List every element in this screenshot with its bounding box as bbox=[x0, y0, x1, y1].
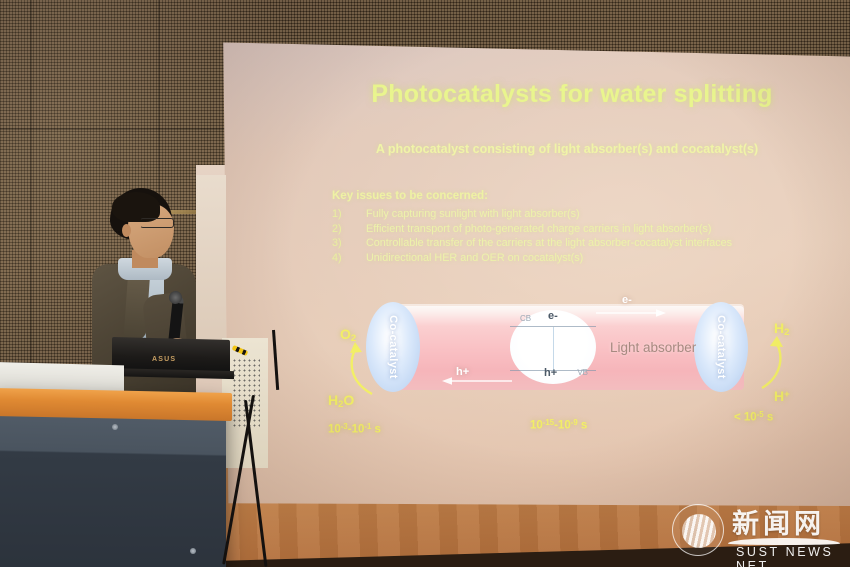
list-item: 2) Efficient transport of photo-generate… bbox=[332, 223, 832, 235]
eyeglasses-icon bbox=[140, 218, 174, 228]
list-item-text: Unidirectional HER and OER on cocatalyst… bbox=[366, 252, 583, 264]
watermark-chinese-text: 新闻网 bbox=[732, 502, 825, 541]
list-item: 1) Fully capturing sunlight with light a… bbox=[332, 208, 832, 220]
timescale-middle: 10-15-10-9 s bbox=[530, 418, 587, 431]
reduction-reaction-arrow bbox=[750, 334, 792, 392]
cocatalyst-left-label: Co-catalyst bbox=[387, 315, 399, 379]
electron-arrow-label: e- bbox=[622, 294, 632, 306]
valence-band-label: VB bbox=[577, 368, 588, 377]
conduction-band-label: CB bbox=[520, 314, 531, 323]
list-item-text: Fully capturing sunlight with light abso… bbox=[366, 208, 580, 220]
list-item-number: 2) bbox=[332, 223, 366, 235]
band-gap-stem bbox=[553, 327, 554, 371]
light-absorber-label: Light absorber bbox=[610, 340, 696, 355]
seal-inner-mark bbox=[682, 514, 716, 548]
podium-screw-upper bbox=[112, 424, 118, 430]
podium-screw-lower bbox=[190, 548, 196, 554]
oxidation-reaction-arrow bbox=[342, 340, 384, 398]
watermark: 新闻网 SUST NEWS NET bbox=[672, 500, 842, 562]
photo-scene: Photocatalysts for water splitting A pho… bbox=[0, 0, 850, 567]
hole-arrow-label: h+ bbox=[456, 366, 469, 378]
electron-transfer-arrow bbox=[594, 306, 668, 320]
hole-transfer-arrow bbox=[440, 374, 514, 388]
projection-screen: Photocatalysts for water splitting A pho… bbox=[222, 32, 850, 508]
oxygen-label: O2 bbox=[340, 326, 356, 344]
watermark-english-text: SUST NEWS NET bbox=[736, 545, 842, 567]
key-issues-list: 1) Fully capturing sunlight with light a… bbox=[332, 208, 832, 266]
list-item-number: 1) bbox=[332, 208, 366, 220]
slide-content: Photocatalysts for water splitting A pho… bbox=[222, 32, 850, 508]
cocatalyst-right-label: Co-catalyst bbox=[715, 315, 727, 379]
core-electron-label: e- bbox=[548, 310, 558, 322]
timescale-right: < 10-5 s bbox=[734, 410, 773, 423]
timescale-left: 10-3-10-1 s bbox=[328, 422, 381, 435]
laptop-brand-label: ASUS bbox=[152, 356, 176, 363]
podium-top-rail bbox=[0, 388, 232, 421]
list-item-number: 3) bbox=[332, 237, 366, 249]
water-label: H2O bbox=[328, 392, 354, 410]
presenter-ear bbox=[122, 224, 131, 237]
slide-subtitle: A photocatalyst consisting of light abso… bbox=[332, 142, 802, 156]
university-seal-icon bbox=[672, 504, 724, 556]
proton-label: H+ bbox=[774, 388, 790, 404]
list-item: 4) Unidirectional HER and OER on cocatal… bbox=[332, 252, 832, 264]
band-structure-circle: CB VB e- h+ bbox=[510, 310, 596, 384]
list-item-text: Controllable transfer of the carriers at… bbox=[366, 237, 732, 249]
hydrogen-label: H2 bbox=[774, 320, 789, 338]
key-issues-heading: Key issues to be concerned: bbox=[332, 190, 488, 202]
photocatalyst-diagram: Co-catalyst Co-catalyst CB VB e- h+ Ligh… bbox=[322, 282, 842, 432]
list-item-text: Efficient transport of photo-generated c… bbox=[366, 223, 711, 235]
list-item-number: 4) bbox=[332, 252, 366, 264]
core-hole-label: h+ bbox=[544, 367, 557, 379]
cocatalyst-right: Co-catalyst bbox=[694, 302, 748, 392]
slide-title: Photocatalysts for water splitting bbox=[362, 80, 782, 109]
watermark-swoosh bbox=[728, 538, 840, 545]
list-item: 3) Controllable transfer of the carriers… bbox=[332, 237, 832, 249]
